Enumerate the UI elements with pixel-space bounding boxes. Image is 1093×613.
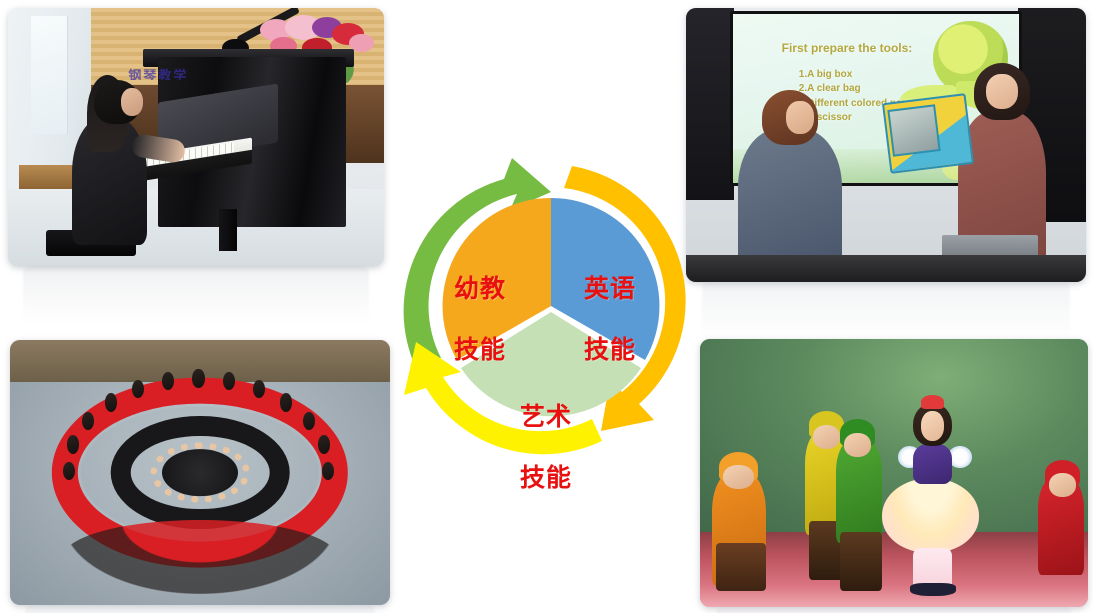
snow-white-hair-bow <box>921 395 944 408</box>
pianist-face <box>121 88 144 116</box>
segment-label-line2: 技能 <box>424 335 536 366</box>
seated-teacher-face <box>786 101 814 134</box>
classroom-desk <box>686 255 1086 282</box>
dancer-head <box>223 372 235 391</box>
dwarf-green-face <box>844 433 871 457</box>
dwarf-green-trousers <box>840 532 883 591</box>
photo-dance-circle <box>10 340 390 605</box>
window-pane <box>31 16 69 135</box>
dancer-head <box>318 435 330 454</box>
craft-box-window <box>887 104 940 156</box>
dancer-head <box>322 462 334 481</box>
dancer-head <box>132 380 144 399</box>
snow-white-shoes <box>910 583 957 596</box>
segment-label-line1: 艺术 <box>490 402 602 433</box>
dwarf-yellow-face <box>813 425 840 449</box>
segment-label-line1: 幼教 <box>424 274 536 305</box>
photo-reflection-drama <box>716 607 1073 613</box>
circle-center <box>162 449 238 497</box>
segment-label-line2: 技能 <box>554 335 666 366</box>
three-skills-cycle-diagram[interactable]: 幼教 技能 英语 技能 艺术 技能 <box>386 136 716 476</box>
photo-english-classroom: First prepare the tools: 1.A big box 2.A… <box>686 8 1086 282</box>
dwarf-orange-trousers <box>716 543 766 591</box>
dwarf-red-face <box>1049 473 1076 497</box>
piano-brand-text: 钢琴教学 <box>102 65 215 80</box>
snow-white-bodice <box>913 444 952 484</box>
photo-card-dance-circle[interactable] <box>10 340 390 605</box>
dancer-head <box>105 393 117 412</box>
slide-tool-item: 2.A clear bag <box>799 82 913 97</box>
slide-tool-item: 1.A big box <box>799 68 913 83</box>
snow-white-face <box>921 411 944 440</box>
dancer-head <box>303 412 315 431</box>
photo-card-piano[interactable]: 钢琴教学 <box>8 8 384 266</box>
photo-reflection-dance <box>25 605 375 613</box>
dancer-head <box>192 369 204 388</box>
poster-canvas: 钢琴教学 First prepare the tools: <box>0 0 1093 613</box>
snow-white-skirt <box>882 478 979 553</box>
piano-leg <box>219 209 238 250</box>
presenting-student-face <box>986 74 1018 110</box>
photo-card-english-classroom[interactable]: First prepare the tools: 1.A big box 2.A… <box>686 8 1086 282</box>
segment-label-line2: 技能 <box>490 463 602 494</box>
photo-snow-white-drama <box>700 339 1088 607</box>
segment-label-art: 艺术 技能 <box>490 371 602 524</box>
photo-card-snow-white-drama[interactable] <box>700 339 1088 607</box>
photo-reflection-classroom <box>702 282 1070 340</box>
front-dancers-row <box>63 520 337 594</box>
slide-title: First prepare the tools: <box>782 41 913 55</box>
photo-reflection-piano <box>23 266 369 324</box>
dwarf-orange-face <box>723 465 754 489</box>
dancer-head <box>280 393 292 412</box>
segment-label-line1: 英语 <box>554 274 666 305</box>
photo-piano: 钢琴教学 <box>8 8 384 266</box>
dancer-head <box>67 435 79 454</box>
